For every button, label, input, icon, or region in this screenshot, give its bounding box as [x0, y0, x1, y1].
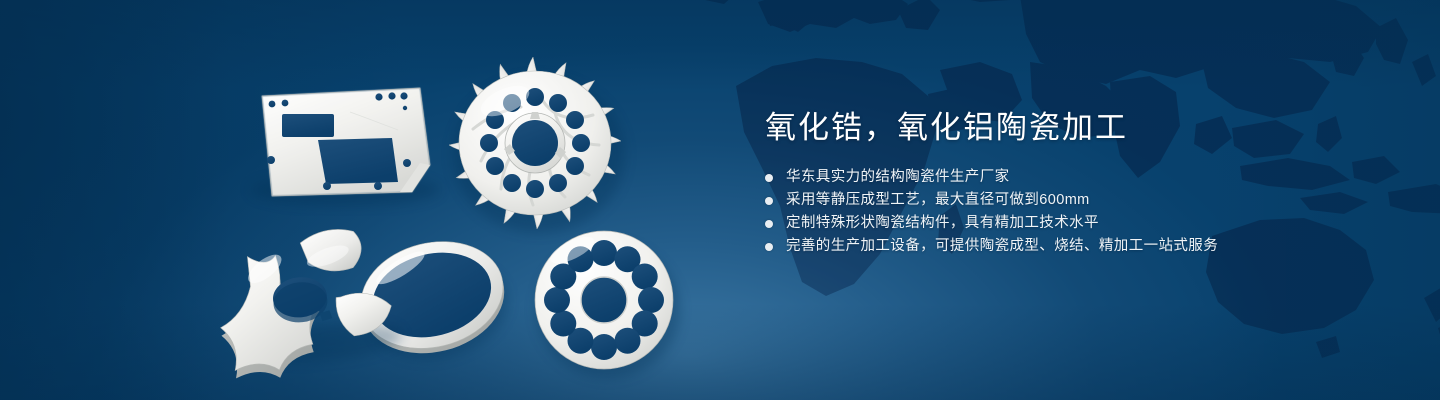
- list-item: 完善的生产加工设备，可提供陶瓷成型、烧结、精加工一站式服务: [765, 239, 1385, 254]
- hero-banner: 氧化锆，氧化铝陶瓷加工 华东具实力的结构陶瓷件生产厂家 采用等静压成型工艺，最大…: [0, 0, 1440, 400]
- bullet-dot-icon: [765, 197, 773, 205]
- feature-list: 华东具实力的结构陶瓷件生产厂家 采用等静压成型工艺，最大直径可做到600mm 定…: [765, 170, 1385, 254]
- product-ceramic-perforated-disc: [535, 231, 680, 378]
- feature-text: 完善的生产加工设备，可提供陶瓷成型、烧结、精加工一站式服务: [786, 239, 1218, 254]
- page-title: 氧化锆，氧化铝陶瓷加工: [765, 108, 1385, 148]
- list-item: 采用等静压成型工艺，最大直径可做到600mm: [765, 193, 1385, 208]
- bullet-dot-icon: [765, 174, 773, 182]
- feature-text: 定制特殊形状陶瓷结构件，具有精加工技术水平: [786, 216, 1099, 231]
- list-item: 定制特殊形状陶瓷结构件，具有精加工技术水平: [765, 216, 1385, 231]
- product-photo-cluster: [0, 0, 740, 400]
- bullet-dot-icon: [765, 220, 773, 228]
- bullet-dot-icon: [765, 243, 773, 251]
- product-ceramic-flat-plate: [250, 88, 440, 206]
- banner-copy: 氧化锆，氧化铝陶瓷加工 华东具实力的结构陶瓷件生产厂家 采用等静压成型工艺，最大…: [765, 108, 1385, 254]
- product-ceramic-impeller: [449, 57, 625, 233]
- feature-text: 采用等静压成型工艺，最大直径可做到600mm: [786, 193, 1090, 208]
- list-item: 华东具实力的结构陶瓷件生产厂家: [765, 170, 1385, 185]
- product-ceramic-cross-plate: [212, 224, 406, 384]
- feature-text: 华东具实力的结构陶瓷件生产厂家: [786, 170, 1010, 185]
